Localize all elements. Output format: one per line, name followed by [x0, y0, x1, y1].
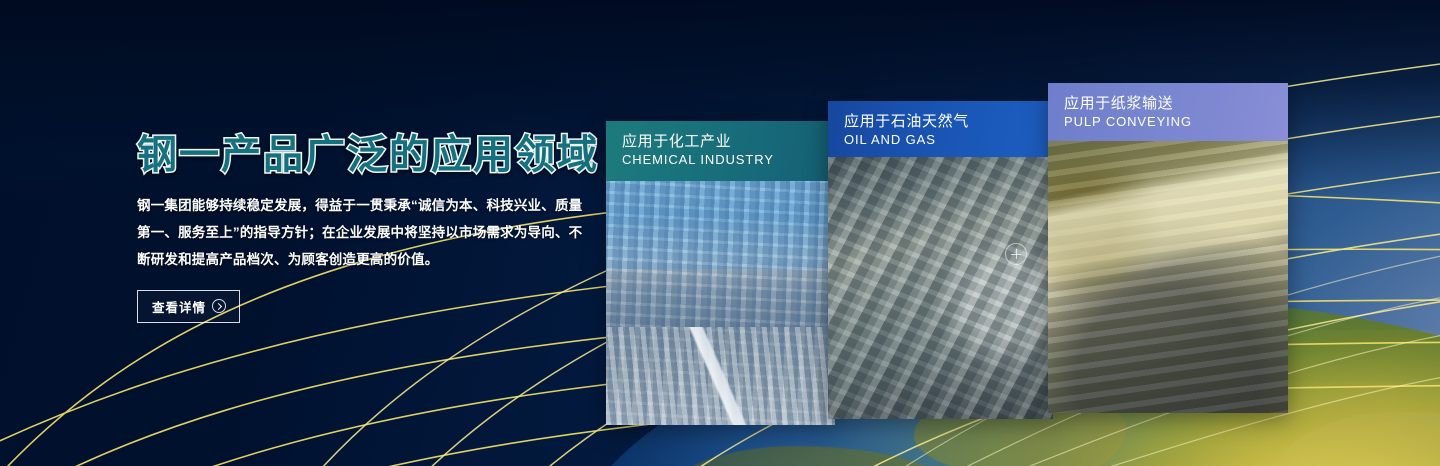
card-caption: 应用于化工产业 CHEMICAL INDUSTRY: [606, 121, 835, 181]
plus-circle-icon[interactable]: [1005, 243, 1027, 265]
card-title-cn: 应用于纸浆输送: [1064, 94, 1288, 114]
application-card-pulp-conveying[interactable]: 应用于纸浆输送 PULP CONVEYING: [1048, 83, 1288, 413]
page-title: 钢一产品广泛的应用领域: [137, 133, 597, 178]
card-title-cn: 应用于石油天然气: [844, 112, 1053, 132]
view-details-button[interactable]: 查看详情: [137, 290, 240, 323]
card-title-en: CHEMICAL INDUSTRY: [622, 152, 835, 169]
paper-pulp-roller-photo: [1048, 141, 1288, 413]
card-title-en: PULP CONVEYING: [1064, 114, 1288, 131]
card-caption: 应用于纸浆输送 PULP CONVEYING: [1048, 83, 1288, 141]
hero-banner: 钢一产品广泛的应用领域 钢一集团能够持续稳定发展，得益于一贯秉承“诚信为本、科技…: [0, 0, 1440, 466]
card-title-cn: 应用于化工产业: [622, 132, 835, 152]
card-caption: 应用于石油天然气 OIL AND GAS: [828, 101, 1053, 157]
oil-gas-pipework-photo: [828, 157, 1053, 419]
application-card-oil-and-gas[interactable]: 应用于石油天然气 OIL AND GAS: [828, 101, 1053, 419]
banner-description: 钢一集团能够持续稳定发展，得益于一贯秉承“诚信为本、科技兴业、质量第一、服务至上…: [137, 192, 585, 273]
card-title-en: OIL AND GAS: [844, 132, 1053, 149]
chevron-right-circle-icon: [212, 299, 226, 313]
banner-copy: 钢一产品广泛的应用领域 钢一集团能够持续稳定发展，得益于一贯秉承“诚信为本、科技…: [137, 133, 597, 323]
view-details-label: 查看详情: [152, 297, 206, 316]
chemical-plant-photo: [606, 181, 835, 425]
application-card-chemical-industry[interactable]: 应用于化工产业 CHEMICAL INDUSTRY: [606, 121, 835, 425]
